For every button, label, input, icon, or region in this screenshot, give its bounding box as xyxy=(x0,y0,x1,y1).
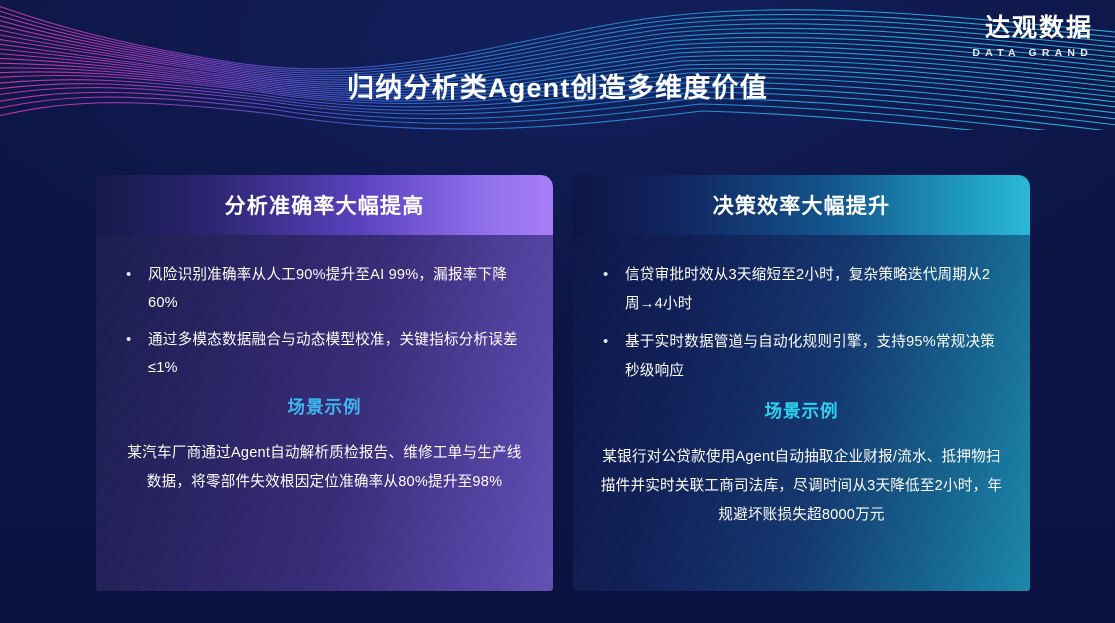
decorative-wave-graphic xyxy=(0,0,1115,130)
bullet-text: 通过多模态数据融合与动态模型校准，关键指标分析误差≤1% xyxy=(148,326,527,382)
brand-name-en: DATA GRAND xyxy=(972,48,1093,59)
card-analysis-accuracy: 分析准确率大幅提高 • 风险识别准确率从人工90%提升至AI 99%，漏报率下降… xyxy=(96,175,553,591)
bullet-marker-icon: • xyxy=(122,326,148,354)
scenario-body-analysis-accuracy: 某汽车厂商通过Agent自动解析质检报告、维修工单与生产线数据，将零部件失效根因… xyxy=(122,439,527,497)
list-item: • 信贷审批时效从3天缩短至2小时，复杂策略迭代周期从2周→4小时 xyxy=(599,261,1004,319)
bullet-marker-icon: • xyxy=(599,261,625,289)
page-title: 归纳分析类Agent创造多维度价值 xyxy=(0,66,1115,105)
brand-logo: 达观数据 DATA GRAND xyxy=(972,16,1093,59)
bullet-marker-icon: • xyxy=(122,261,148,289)
card-title-decision-efficiency: 决策效率大幅提升 xyxy=(713,190,891,220)
scenario-body-decision-efficiency: 某银行对公贷款使用Agent自动抽取企业财报/流水、抵押物扫描件并实时关联工商司… xyxy=(599,443,1004,530)
bullet-list-decision-efficiency: • 信贷审批时效从3天缩短至2小时，复杂策略迭代周期从2周→4小时 • 基于实时… xyxy=(599,261,1004,386)
card-decision-efficiency: 决策效率大幅提升 • 信贷审批时效从3天缩短至2小时，复杂策略迭代周期从2周→4… xyxy=(573,175,1030,591)
bullet-list-analysis-accuracy: • 风险识别准确率从人工90%提升至AI 99%，漏报率下降60% • 通过多模… xyxy=(122,261,527,382)
card-body-decision-efficiency: • 信贷审批时效从3天缩短至2小时，复杂策略迭代周期从2周→4小时 • 基于实时… xyxy=(573,235,1030,591)
card-container: 分析准确率大幅提高 • 风险识别准确率从人工90%提升至AI 99%，漏报率下降… xyxy=(96,175,1030,591)
card-header-decision-efficiency: 决策效率大幅提升 xyxy=(573,175,1030,235)
bullet-text: 信贷审批时效从3天缩短至2小时，复杂策略迭代周期从2周→4小时 xyxy=(625,261,1004,319)
brand-name-cn: 达观数据 xyxy=(972,16,1093,41)
list-item: • 基于实时数据管道与自动化规则引擎，支持95%常规决策秒级响应 xyxy=(599,328,1004,386)
card-body-analysis-accuracy: • 风险识别准确率从人工90%提升至AI 99%，漏报率下降60% • 通过多模… xyxy=(96,235,553,591)
card-header-analysis-accuracy: 分析准确率大幅提高 xyxy=(96,175,553,235)
scenario-heading-analysis-accuracy: 场景示例 xyxy=(122,394,527,419)
list-item: • 通过多模态数据融合与动态模型校准，关键指标分析误差≤1% xyxy=(122,326,527,382)
scenario-heading-decision-efficiency: 场景示例 xyxy=(599,398,1004,423)
card-title-analysis-accuracy: 分析准确率大幅提高 xyxy=(225,190,425,220)
slide-root: 达观数据 DATA GRAND 归纳分析类Agent创造多维度价值 分析准确率大… xyxy=(0,0,1115,623)
bullet-marker-icon: • xyxy=(599,328,625,356)
bullet-text: 基于实时数据管道与自动化规则引擎，支持95%常规决策秒级响应 xyxy=(625,328,1004,386)
list-item: • 风险识别准确率从人工90%提升至AI 99%，漏报率下降60% xyxy=(122,261,527,317)
bullet-text: 风险识别准确率从人工90%提升至AI 99%，漏报率下降60% xyxy=(148,261,527,317)
